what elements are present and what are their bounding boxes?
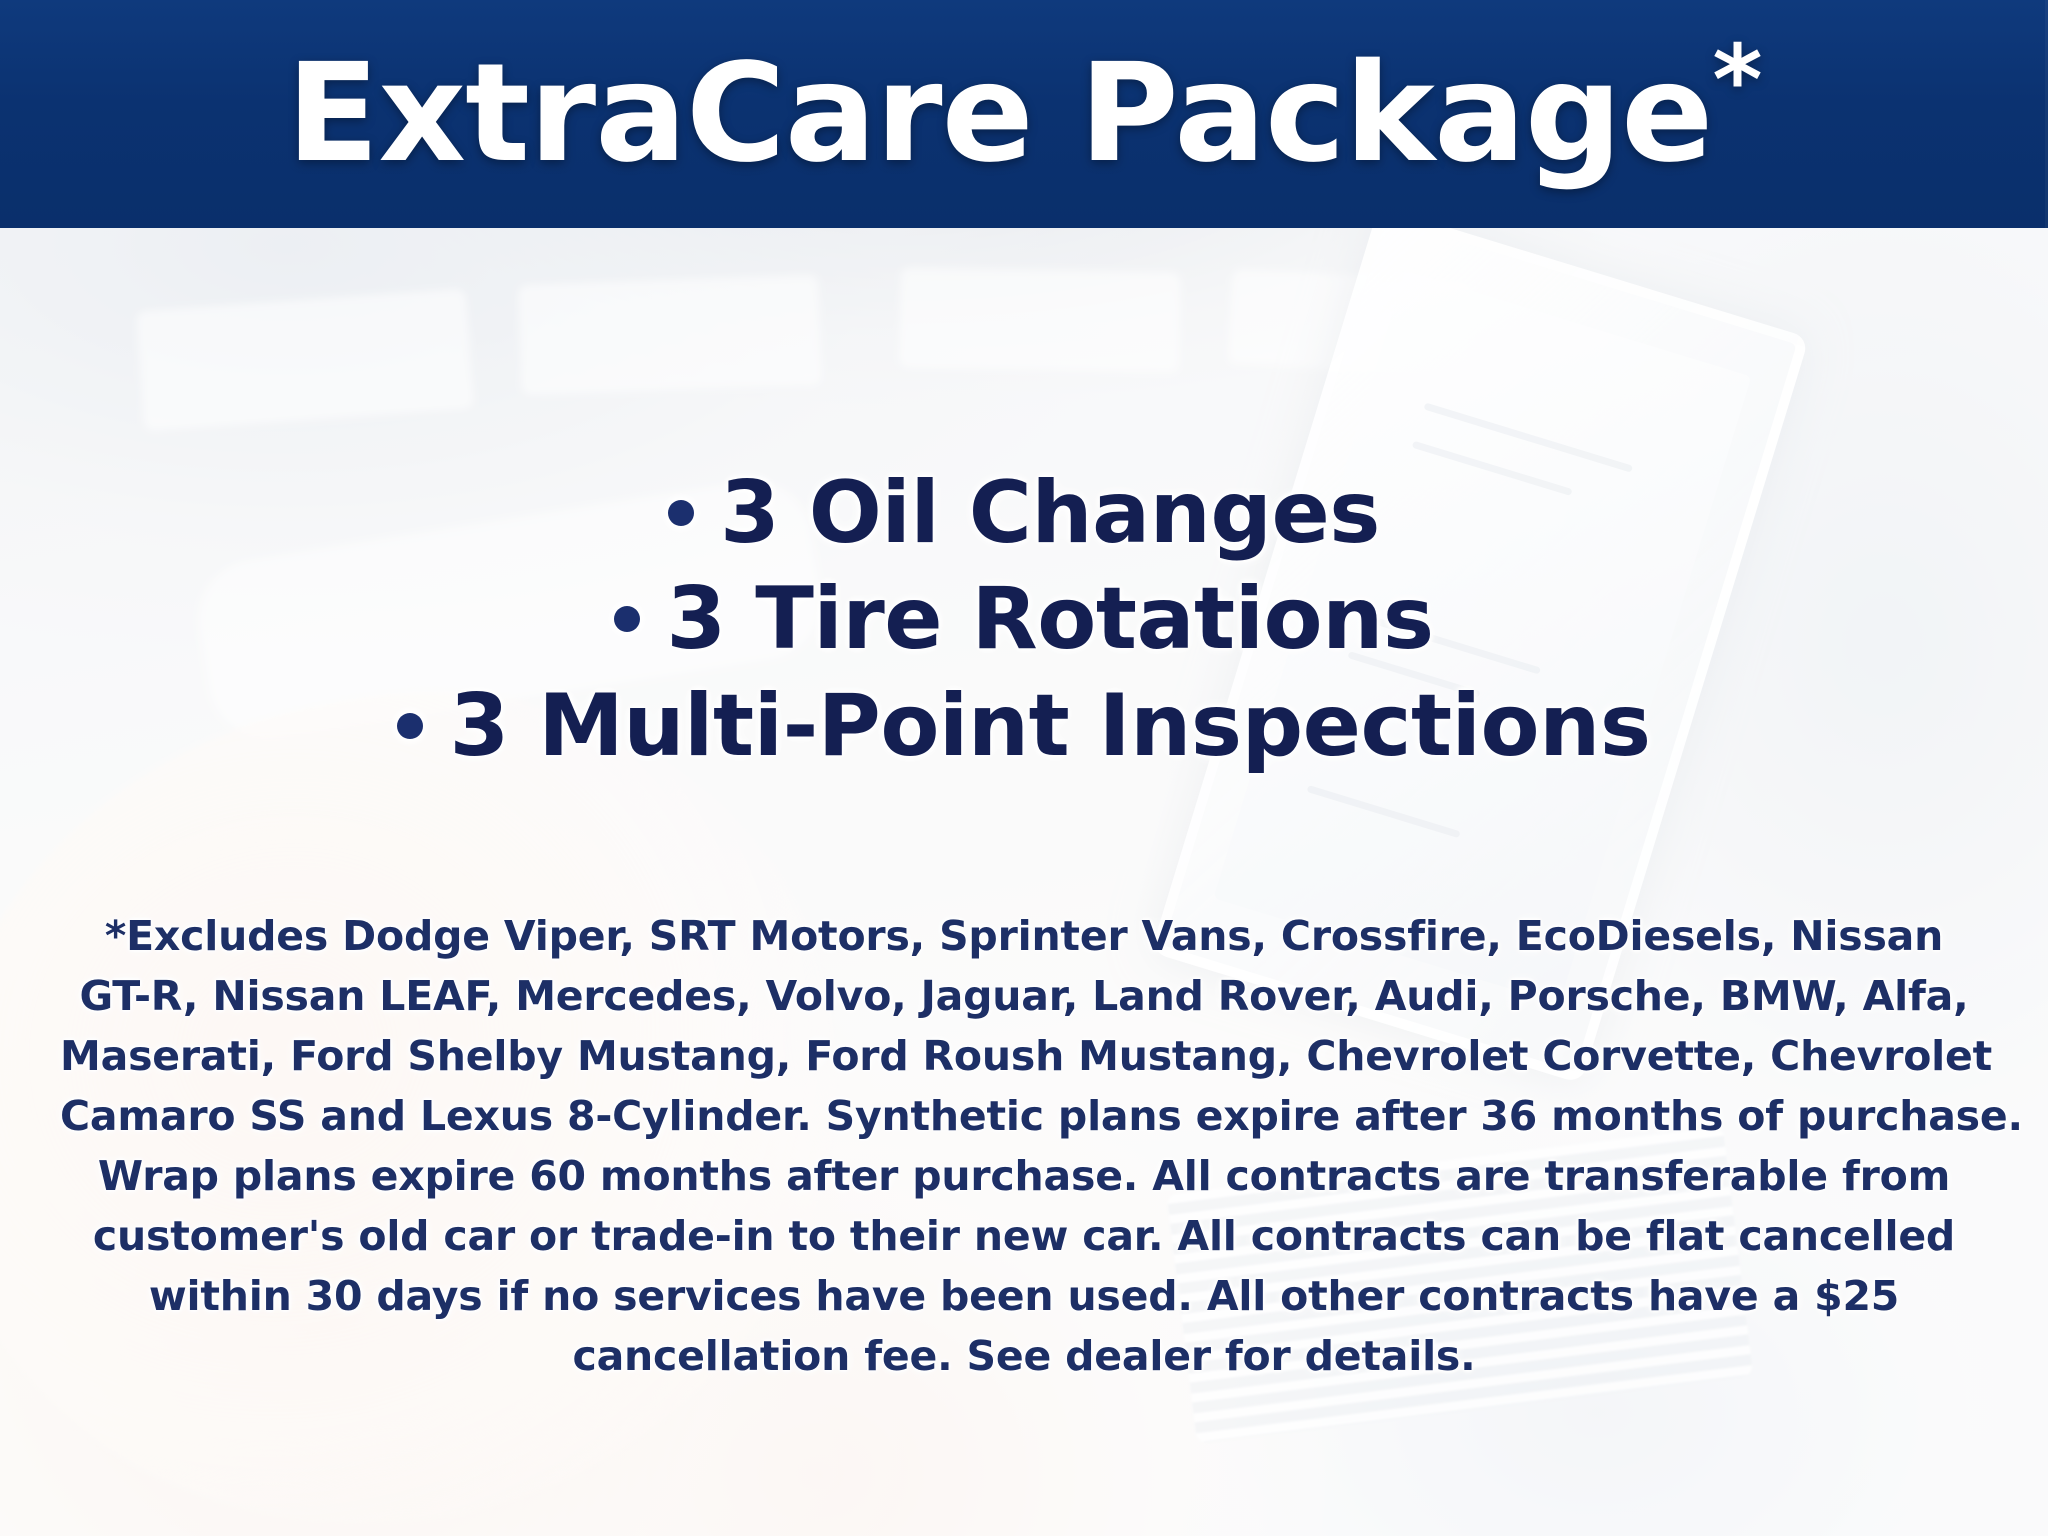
bullet-dot-icon	[614, 606, 640, 632]
benefit-item-multi-point-inspections: 3 Multi-Point Inspections	[397, 681, 1650, 771]
disclaimer-line: Camaro SS and Lexus 8-Cylinder. Syntheti…	[60, 1086, 1988, 1146]
disclaimer-line: customer's old car or trade-in to their …	[60, 1206, 1988, 1266]
disclaimer-line: GT-R, Nissan LEAF, Mercedes, Volvo, Jagu…	[60, 966, 1988, 1026]
benefits-list: 3 Oil Changes 3 Tire Rotations 3 Multi-P…	[0, 468, 2048, 787]
benefit-item-oil-changes: 3 Oil Changes	[668, 468, 1380, 558]
page-title: ExtraCare Package*	[286, 46, 1761, 182]
disclaimer-line: cancellation fee. See dealer for details…	[60, 1326, 1988, 1386]
benefit-item-tire-rotations: 3 Tire Rotations	[614, 574, 1433, 664]
header-banner: ExtraCare Package*	[0, 0, 2048, 228]
bullet-dot-icon	[668, 500, 694, 526]
benefit-label: 3 Tire Rotations	[666, 574, 1433, 664]
extracare-package-poster: ExtraCare Package* 3 Oil Changes 3 Tire …	[0, 0, 2048, 1536]
page-title-text: ExtraCare Package	[286, 35, 1712, 193]
disclaimer-block: *Excludes Dodge Viper, SRT Motors, Sprin…	[0, 906, 2048, 1386]
page-title-asterisk: *	[1712, 25, 1761, 137]
disclaimer-line: Wrap plans expire 60 months after purcha…	[60, 1146, 1988, 1206]
disclaimer-line: Maserati, Ford Shelby Mustang, Ford Rous…	[60, 1026, 1988, 1086]
benefit-label: 3 Oil Changes	[720, 468, 1380, 558]
disclaimer-line: *Excludes Dodge Viper, SRT Motors, Sprin…	[60, 906, 1988, 966]
benefit-label: 3 Multi-Point Inspections	[449, 681, 1650, 771]
disclaimer-line: within 30 days if no services have been …	[60, 1266, 1988, 1326]
bullet-dot-icon	[397, 713, 423, 739]
